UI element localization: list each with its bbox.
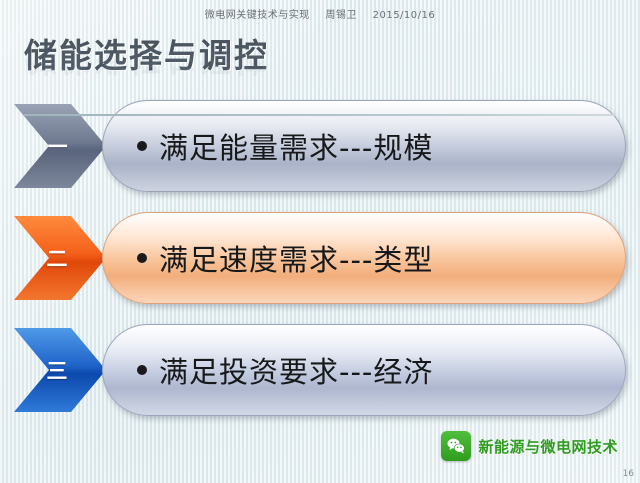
- bullet-dot-icon: [137, 141, 147, 151]
- title-block: 储能选择与调控 储能选择与调控: [24, 36, 614, 84]
- row-text-3: 满足投资要求---经济: [159, 349, 433, 391]
- header-course: 微电网关键技术与实现: [205, 10, 310, 21]
- bullet-dot-icon: [137, 253, 147, 263]
- chevron-number-1: 一: [47, 131, 68, 161]
- bullet-dot-icon: [137, 365, 147, 375]
- row-text-2: 满足速度需求---类型: [159, 237, 433, 279]
- row-bar-2[interactable]: 满足速度需求---类型: [102, 212, 626, 304]
- bullet-rows: 一 满足能量需求---规模 二 满足速度需求---类型 三 满足投资要求---经…: [14, 100, 626, 436]
- chevron-number-3: 三: [47, 355, 68, 385]
- list-item[interactable]: 二 满足速度需求---类型: [14, 212, 626, 304]
- header-date: 2015/10/16: [373, 10, 436, 21]
- list-item[interactable]: 三 满足投资要求---经济: [14, 324, 626, 416]
- row-bar-3[interactable]: 满足投资要求---经济: [102, 324, 626, 416]
- wechat-icon: [441, 431, 471, 461]
- chevron-number-2: 二: [47, 243, 68, 273]
- chevron-marker-3: 三: [14, 328, 106, 412]
- slide-canvas: 微电网关键技术与实现 周锡卫 2015/10/16 储能选择与调控 储能选择与调…: [0, 0, 640, 483]
- chevron-marker-1: 一: [14, 104, 106, 188]
- footer-watermark: 新能源与微电网技术: [441, 431, 618, 461]
- slide-header: 微电网关键技术与实现 周锡卫 2015/10/16: [0, 6, 640, 21]
- title-divider: [24, 114, 616, 116]
- page-title: 储能选择与调控: [24, 36, 614, 76]
- page-number: 16: [623, 469, 634, 479]
- footer-text: 新能源与微电网技术: [478, 436, 618, 457]
- row-text-1: 满足能量需求---规模: [159, 125, 433, 167]
- chevron-marker-2: 二: [14, 216, 106, 300]
- header-author: 周锡卫: [325, 10, 357, 21]
